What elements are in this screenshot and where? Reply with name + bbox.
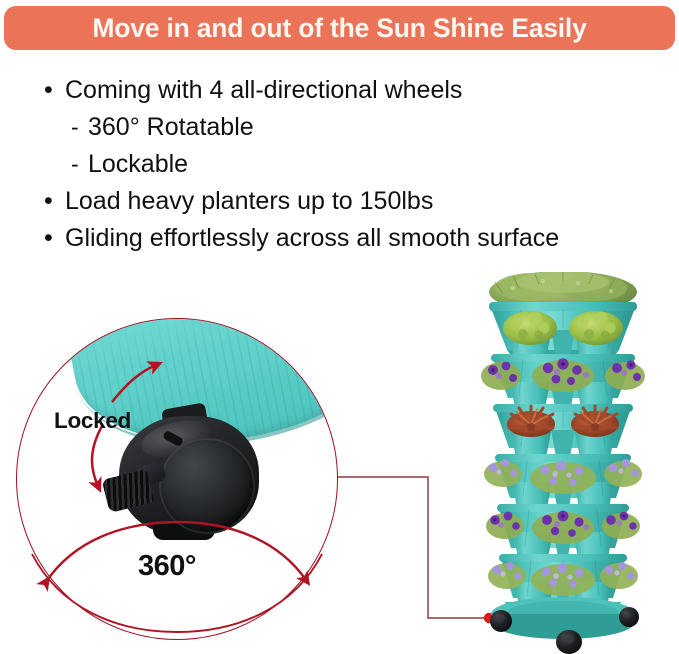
- list-item: • Coming with 4 all-directional wheels: [44, 72, 674, 109]
- caster-wheel-rim: [159, 438, 255, 534]
- list-item-label: Coming with 4 all-directional wheels: [65, 72, 462, 109]
- bullet-icon: •: [44, 72, 65, 109]
- list-item: - 360° Rotatable: [44, 109, 674, 146]
- list-item-label: Gliding effortlessly across all smooth s…: [65, 220, 559, 257]
- list-item-label: 360° Rotatable: [88, 109, 254, 146]
- planter-tower-illustration: [443, 272, 679, 654]
- dash-icon: -: [71, 109, 88, 146]
- list-item: - Lockable: [44, 146, 674, 183]
- caster-wheel-right: [619, 607, 639, 627]
- degree-label: 360°: [138, 550, 196, 583]
- bullet-icon: •: [44, 220, 65, 257]
- caster-detail-inset: Locked 360°: [16, 318, 338, 640]
- list-item-label: Lockable: [88, 146, 188, 183]
- bullet-icon: •: [44, 183, 65, 220]
- inset-circle-outline: [16, 318, 338, 640]
- locked-label: Locked: [54, 408, 131, 434]
- list-item: • Load heavy planters up to 150lbs: [44, 183, 674, 220]
- list-item: • Gliding effortlessly across all smooth…: [44, 220, 674, 257]
- caster-wheel-assembly: [113, 416, 265, 541]
- dash-icon: -: [71, 146, 88, 183]
- list-item-label: Load heavy planters up to 150lbs: [65, 183, 433, 220]
- feature-list: • Coming with 4 all-directional wheels -…: [44, 72, 674, 257]
- plant-tier-6: [488, 562, 638, 596]
- plant-tier-2: [481, 358, 645, 392]
- planter-tower-product-image: [443, 272, 679, 654]
- page-title: Move in and out of the Sun Shine Easily: [4, 6, 675, 50]
- header-banner: Move in and out of the Sun Shine Easily: [4, 6, 675, 50]
